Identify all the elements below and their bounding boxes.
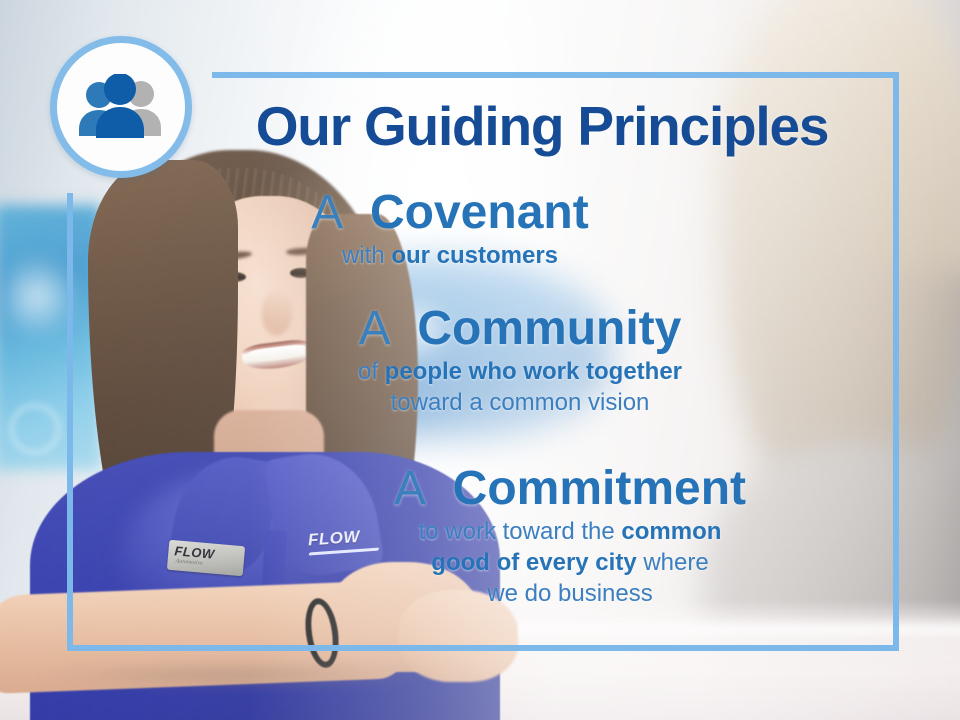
principle-commitment-word: Commitment bbox=[453, 462, 746, 515]
principle-community-heading: A Community bbox=[210, 302, 830, 356]
principles-badge bbox=[50, 36, 192, 178]
principle-covenant: A Covenant with our customers bbox=[160, 186, 740, 271]
principle-covenant-subtext: with our customers bbox=[160, 240, 740, 271]
principle-community-word: Community bbox=[417, 302, 681, 355]
subtext-line: toward a common vision bbox=[210, 387, 830, 418]
principle-covenant-article: A bbox=[311, 186, 356, 239]
subtext-emphasis: people who work together bbox=[385, 358, 682, 385]
principle-commitment-heading: A Commitment bbox=[260, 462, 880, 516]
subtext-line: with our customers bbox=[160, 240, 740, 271]
subtext-line: good of every city where bbox=[260, 547, 880, 578]
principle-commitment: A Commitment to work toward the commongo… bbox=[260, 462, 880, 609]
name-badge-subtitle: Automotive bbox=[175, 558, 203, 566]
people-group-icon bbox=[73, 74, 169, 140]
principle-community-subtext: of people who work togethertoward a comm… bbox=[210, 356, 830, 418]
arm-shadow bbox=[40, 662, 440, 688]
subtext-emphasis: our customers bbox=[391, 242, 558, 269]
subtext-plain: to work toward the bbox=[419, 518, 622, 545]
subtext-line: of people who work together bbox=[210, 356, 830, 387]
principle-covenant-heading: A Covenant bbox=[160, 186, 740, 240]
principle-community-article: A bbox=[359, 302, 404, 355]
subtext-plain: where bbox=[637, 549, 709, 576]
frame-border-bottom bbox=[67, 645, 899, 651]
page-title: Our Guiding Principles bbox=[212, 96, 872, 156]
principle-covenant-word: Covenant bbox=[370, 186, 589, 239]
principle-commitment-subtext: to work toward the commongood of every c… bbox=[260, 516, 880, 609]
subtext-emphasis: common bbox=[621, 518, 721, 545]
subtext-line: to work toward the common bbox=[260, 516, 880, 547]
subtext-plain: with bbox=[342, 242, 391, 269]
principle-commitment-article: A bbox=[394, 462, 439, 515]
frame-border-right bbox=[893, 72, 899, 651]
principle-community: A Community of people who work togethert… bbox=[210, 302, 830, 418]
poster-canvas: FLOW Automotive FLOW bbox=[0, 0, 960, 720]
frame-border-left bbox=[67, 193, 73, 651]
subtext-emphasis: good of every city bbox=[431, 549, 636, 576]
subtext-line: we do business bbox=[260, 578, 880, 609]
subtext-plain: we do business bbox=[487, 580, 652, 607]
subtext-plain: toward a common vision bbox=[391, 389, 650, 416]
frame-border-top bbox=[212, 72, 899, 78]
subtext-plain: of bbox=[358, 358, 385, 385]
